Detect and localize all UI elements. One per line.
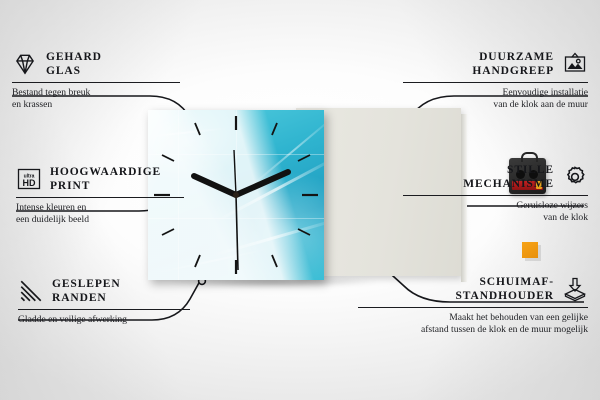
feature-title: GESLEPEN RANDEN [52,277,121,305]
diamond-icon [12,51,38,77]
feature-title: GEHARD GLAS [46,50,102,78]
infographic-canvas: GEHARD GLAS Bestand tegen breuk en krass… [0,0,600,400]
feature-duurzame-handgreep[interactable]: DUURZAME HANDGREEP Eenvoudige installati… [403,50,588,111]
feature-stille-mechanisme[interactable]: STILLE MECHANISME Geruisloze wijzers van… [403,163,588,224]
feature-title: DUURZAME HANDGREEP [472,50,554,78]
picture-frame-icon [562,51,588,77]
feature-description: Eenvoudige installatie van de klok aan d… [403,87,588,111]
svg-text:HD: HD [23,178,36,188]
feature-schuimafstandhouder[interactable]: SCHUIMAF- STANDHOUDER Maakt het behouden… [358,275,588,336]
feature-title: SCHUIMAF- STANDHOUDER [455,275,554,303]
feature-description: Gladde en veilige afwerking [18,314,190,326]
feature-geslepen-randen[interactable]: GESLEPEN RANDEN Gladde en veilige afwerk… [18,277,190,326]
feature-description: Bestand tegen breuk en krassen [12,87,180,111]
feature-description: Geruisloze wijzers van de klok [403,200,588,224]
divider [403,82,588,83]
gear-icon [562,164,588,190]
arrow-down-pad-icon [562,276,588,302]
hanger-hook-icon [521,152,538,162]
bevelled-edges-icon [18,278,44,304]
divider [403,195,588,196]
divider [16,197,184,198]
feature-hoogwaardige-print[interactable]: ultra HD HOOGWAARDIGE PRINT Intense kleu… [16,165,184,226]
feature-title: STILLE MECHANISME [463,163,554,191]
divider [358,307,588,308]
feature-title: HOOGWAARDIGE PRINT [50,165,161,193]
feature-gehard-glas[interactable]: GEHARD GLAS Bestand tegen breuk en krass… [12,50,180,111]
foam-spacer [522,242,538,258]
divider [18,309,190,310]
feature-description: Intense kleuren en een duidelijk beeld [16,202,184,226]
divider [12,82,180,83]
ultra-hd-icon: ultra HD [16,166,42,192]
feature-description: Maakt het behouden van een gelijke afsta… [358,312,588,336]
